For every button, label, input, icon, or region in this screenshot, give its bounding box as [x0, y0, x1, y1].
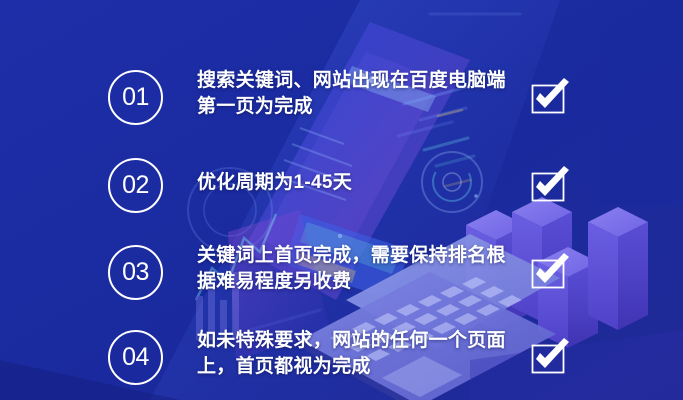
item-text: 关键词上首页完成，需要保持排名根据难易程度另收费	[197, 243, 517, 294]
item-number: 02	[122, 173, 149, 198]
list-item[interactable]: 04 如未特殊要求，网站的任何一个页面上，首页都视为完成	[0, 322, 683, 392]
item-number: 03	[122, 260, 149, 285]
item-number-badge: 02	[108, 158, 163, 213]
list-item[interactable]: 02 优化周期为1-45天	[0, 150, 683, 220]
list-item[interactable]: 03 关键词上首页完成，需要保持排名根据难易程度另收费	[0, 237, 683, 307]
item-number-badge: 04	[108, 330, 163, 385]
item-list: 01 搜索关键词、网站出现在百度电脑端第一页为完成 02 优化周期为1-45天	[0, 0, 683, 400]
item-number: 04	[122, 345, 149, 370]
checkbox-checked-icon	[529, 77, 571, 119]
checkbox-checked-icon	[529, 252, 571, 294]
checkbox-checked-icon	[529, 165, 571, 207]
item-text: 搜索关键词、网站出现在百度电脑端第一页为完成	[197, 68, 517, 119]
item-number-badge: 01	[108, 70, 163, 125]
item-number-badge: 03	[108, 245, 163, 300]
item-text: 优化周期为1-45天	[197, 170, 517, 196]
seo-service-infographic: 01 搜索关键词、网站出现在百度电脑端第一页为完成 02 优化周期为1-45天	[0, 0, 683, 400]
item-number: 01	[122, 85, 149, 110]
item-text: 如未特殊要求，网站的任何一个页面上，首页都视为完成	[197, 328, 517, 379]
checkbox-checked-icon	[529, 337, 571, 379]
list-item[interactable]: 01 搜索关键词、网站出现在百度电脑端第一页为完成	[0, 62, 683, 132]
